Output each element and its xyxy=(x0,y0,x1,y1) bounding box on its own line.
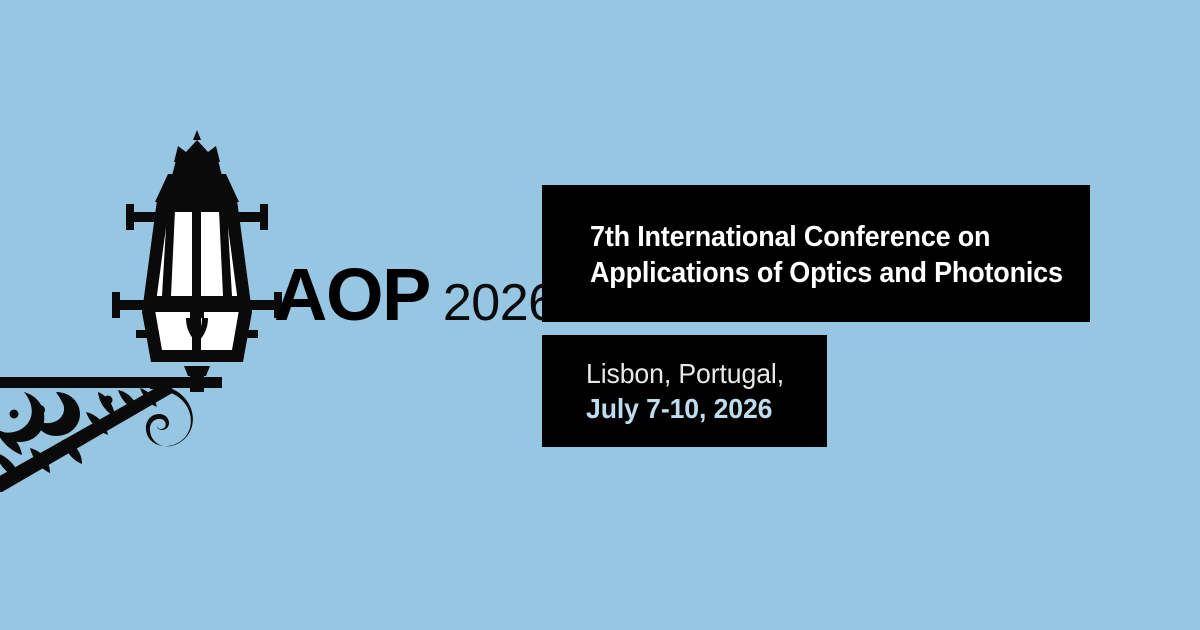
logo-year: 2026 xyxy=(443,277,557,329)
aop-logo-wordmark: AOP 2026 xyxy=(274,258,557,332)
conference-banner: AOP 2026 7th International Conference on… xyxy=(0,0,1200,630)
lantern-crown-finial-icon xyxy=(155,130,239,202)
conference-title-panel: 7th International Conference on Applicat… xyxy=(542,185,1090,322)
bracket-scrollwork-icon xyxy=(0,377,222,492)
venue-and-dates-panel: Lisbon, Portugal, July 7-10, 2026 xyxy=(542,335,827,447)
conference-title-line-1: 7th International Conference on xyxy=(590,219,1055,255)
conference-dates: July 7-10, 2026 xyxy=(586,391,815,426)
venue-location: Lisbon, Portugal, xyxy=(586,356,815,391)
conference-title-line-2: Applications of Optics and Photonics xyxy=(590,255,1055,291)
logo-acronym: AOP xyxy=(274,258,430,332)
